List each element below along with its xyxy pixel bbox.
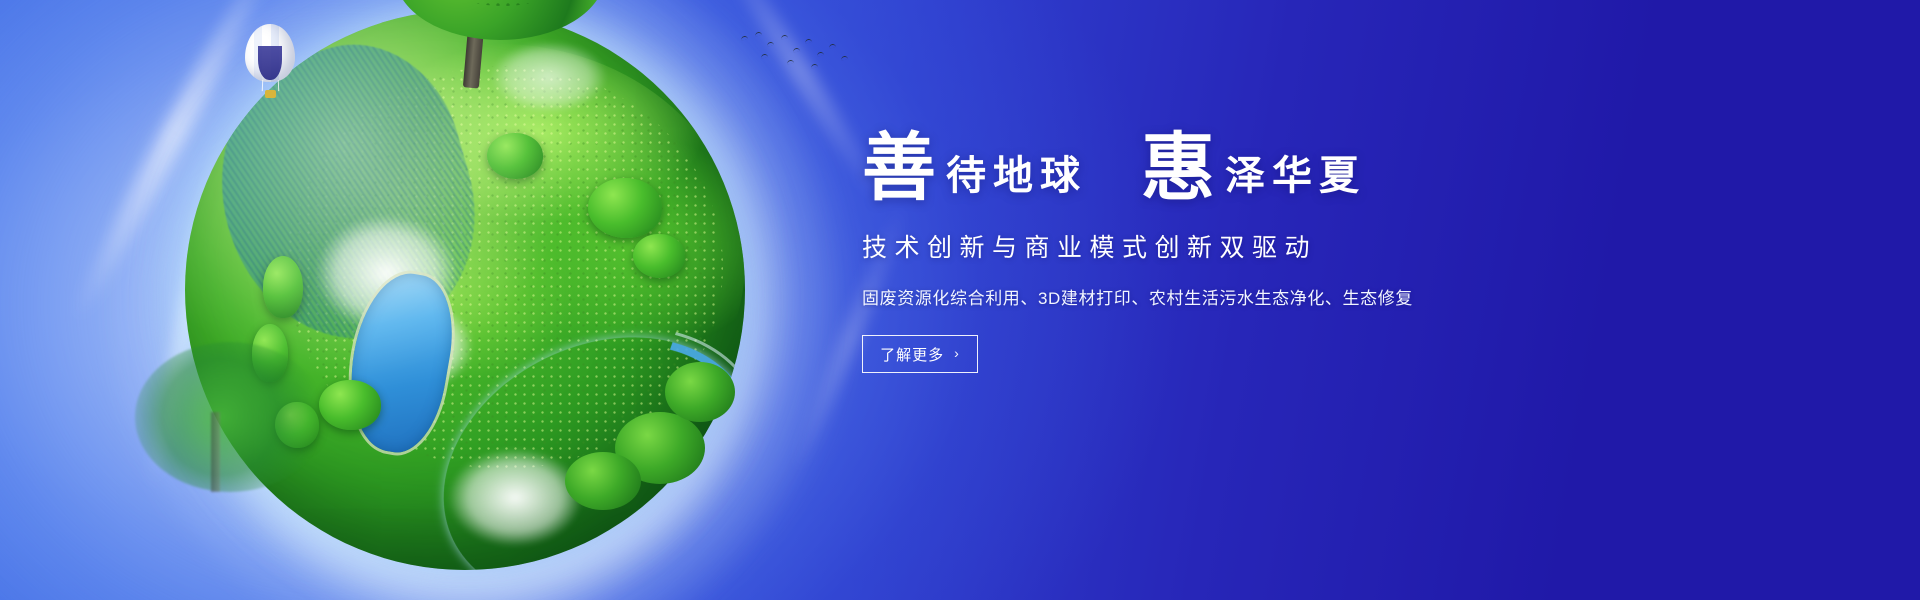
hot-air-balloon-icon (245, 24, 295, 102)
hero-banner: 善 待地球 惠 泽华夏 技术创新与商业模式创新双驱动 固废资源化综合利用、3D建… (0, 0, 1920, 600)
tree-icon (135, 342, 325, 492)
grass-speckle-texture (286, 66, 723, 469)
bush-icon (263, 256, 303, 318)
bush-icon (319, 380, 381, 430)
learn-more-label: 了解更多 (880, 344, 944, 365)
chevron-right-icon: › (954, 345, 960, 361)
banner-description: 固废资源化综合利用、3D建材打印、农村生活污水生态净化、生态修复 (862, 284, 1842, 309)
headline-rest-1: 待地球 (946, 156, 1087, 196)
learn-more-button[interactable]: 了解更多 › (862, 335, 978, 373)
bush-icon (588, 178, 662, 238)
cloud-icon (476, 32, 622, 122)
headline-lead-1: 善 (862, 132, 936, 206)
headline-rest-2: 泽华夏 (1225, 156, 1366, 196)
bird-flock-icon (737, 30, 867, 74)
green-earth-globe (145, 0, 785, 600)
bush-icon (665, 362, 735, 422)
headline-lead-2: 惠 (1141, 132, 1215, 206)
bush-icon (633, 234, 685, 278)
bush-icon (487, 133, 543, 179)
bush-icon (565, 452, 641, 510)
balloon-basket (265, 90, 276, 98)
cloud-icon (353, 290, 487, 402)
lake (338, 266, 463, 459)
banner-subtitle: 技术创新与商业模式创新双驱动 (862, 228, 1842, 264)
page-title: 善 待地球 惠 泽华夏 (862, 128, 1842, 202)
cloud-icon (297, 200, 476, 346)
banner-content: 善 待地球 惠 泽华夏 技术创新与商业模式创新双驱动 固废资源化综合利用、3D建… (862, 128, 1842, 373)
